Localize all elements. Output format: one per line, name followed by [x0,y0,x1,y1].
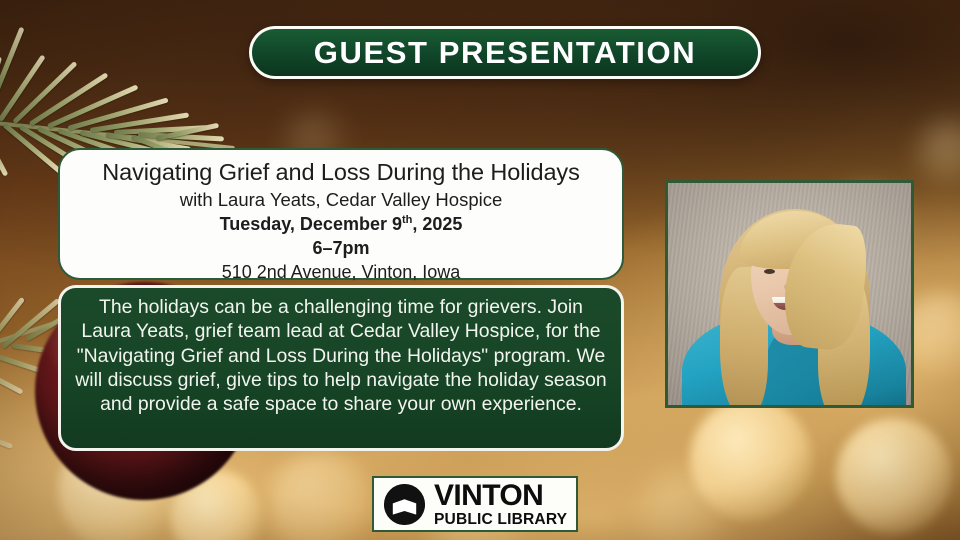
event-presenter: with Laura Yeats, Cedar Valley Hospice [76,188,606,212]
event-time: 6–7pm [76,237,606,260]
presenter-photo [665,180,914,408]
logo-name: VINTON [434,481,567,511]
event-description-card: The holidays can be a challenging time f… [58,285,624,451]
library-logo: VINTON PUBLIC LIBRARY [372,476,578,532]
event-date-ordinal: th [402,214,412,226]
event-date-suffix: , 2025 [412,214,462,234]
logo-wordmark: VINTON PUBLIC LIBRARY [434,481,567,528]
poster-canvas: GUEST PRESENTATION Navigating Grief and … [0,0,960,540]
event-description-text: The holidays can be a challenging time f… [75,295,607,417]
event-info-card: Navigating Grief and Loss During the Hol… [58,148,624,280]
event-title: Navigating Grief and Loss During the Hol… [76,159,606,187]
open-book-circle-icon [384,484,425,525]
banner-label: GUEST PRESENTATION [314,35,696,71]
guest-presentation-banner: GUEST PRESENTATION [249,26,761,79]
photo-eye-left [764,269,775,274]
event-date-prefix: Tuesday, December 9 [220,214,402,234]
logo-tagline: PUBLIC LIBRARY [434,512,567,528]
event-address: 510 2nd Avenue, Vinton, Iowa [76,261,606,285]
event-date: Tuesday, December 9th, 2025 [76,213,606,236]
